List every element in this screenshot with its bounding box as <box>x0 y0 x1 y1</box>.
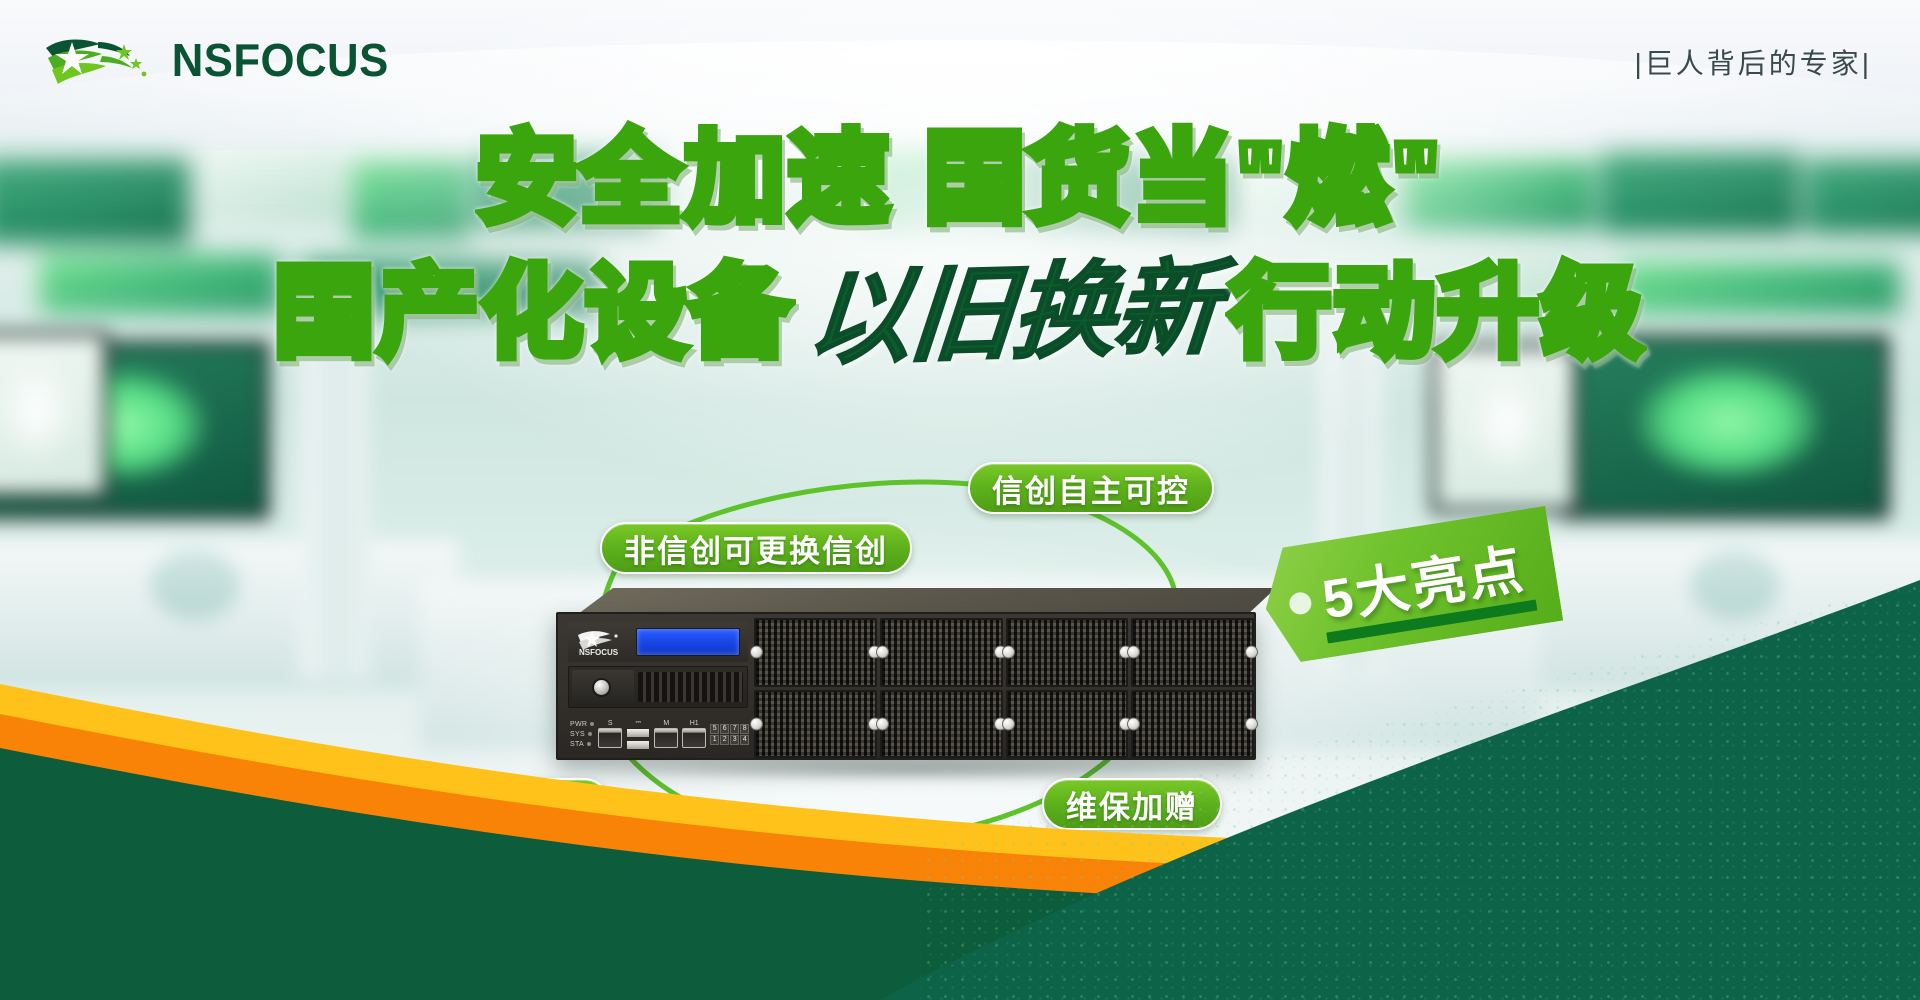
nsfocus-logo: NSFOCUS <box>42 32 394 88</box>
badge-replace-with-xinchuang[interactable]: 非信创可更换信创 <box>600 522 912 574</box>
tagline: |巨人背后的专家| <box>1634 42 1872 82</box>
nsfocus-flag-star-logo <box>42 32 154 88</box>
brand-name: NSFOCUS <box>172 33 389 87</box>
promo-banner: NSFOCUS |巨人背后的专家| 安全加速 国货当"燃" 国产化设备 以旧换新… <box>0 0 1920 1000</box>
badge-xinchuang-autonomous[interactable]: 信创自主可控 <box>968 462 1214 514</box>
